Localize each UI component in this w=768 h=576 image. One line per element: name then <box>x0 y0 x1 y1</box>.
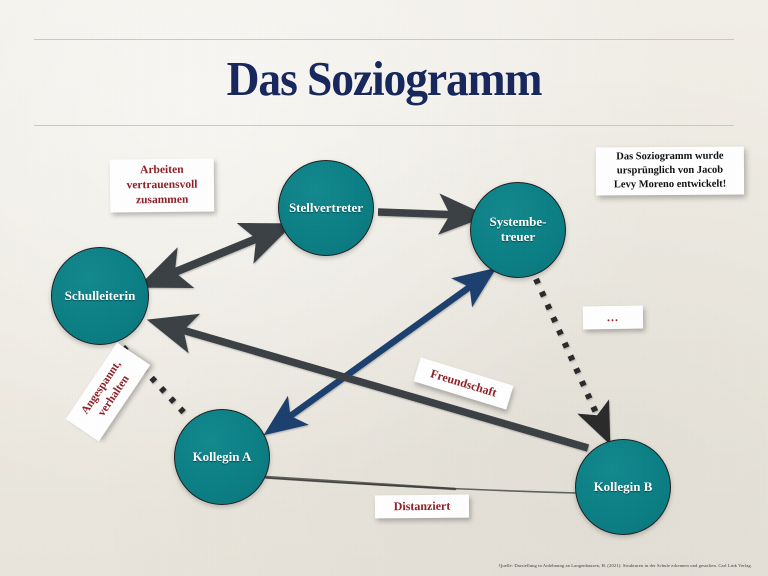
label-text: Distanziert <box>394 498 451 514</box>
label-text: ... <box>607 315 619 320</box>
edge-systembetreuer-kollegin-b <box>536 279 601 424</box>
edge-kollegin-a-systembetreuer <box>282 281 478 422</box>
node-kollegin-b[interactable]: Kollegin B <box>575 439 671 535</box>
node-label: Systembe- treuer <box>489 215 546 244</box>
edge-kollegin-a-kollegin-b-taper <box>266 477 455 489</box>
label-text: Arbeiten vertrauensvoll zusammen <box>126 162 197 208</box>
source-note: Quelle: Darstellung in Anlehnung an Lang… <box>499 563 752 568</box>
node-label: Kollegin B <box>594 480 653 495</box>
edge-stellvertreter-systembetreuer <box>378 212 462 215</box>
slide-canvas: Das Soziogramm <box>0 0 768 576</box>
node-label: Stellvertreter <box>289 201 363 216</box>
node-stellvertreter[interactable]: Stellvertreter <box>278 160 374 256</box>
node-label: Kollegin A <box>193 450 252 465</box>
edge-schulleiterin-stellvertreter <box>163 234 268 277</box>
label-arbeiten-vertrauensvoll-zusammen: Arbeiten vertrauensvoll zusammen <box>110 158 215 212</box>
label-ellipsis: ... <box>583 305 643 329</box>
info-box: Das Soziogramm wurde ursprünglich von Ja… <box>596 146 744 195</box>
label-distanziert: Distanziert <box>375 495 469 519</box>
info-box-text: Das Soziogramm wurde ursprünglich von Ja… <box>614 150 727 193</box>
node-schulleiterin[interactable]: Schulleiterin <box>51 247 149 345</box>
node-systembetreuer[interactable]: Systembe- treuer <box>470 182 566 278</box>
node-label: Schulleiterin <box>65 289 136 304</box>
node-kollegin-a[interactable]: Kollegin A <box>174 409 270 505</box>
